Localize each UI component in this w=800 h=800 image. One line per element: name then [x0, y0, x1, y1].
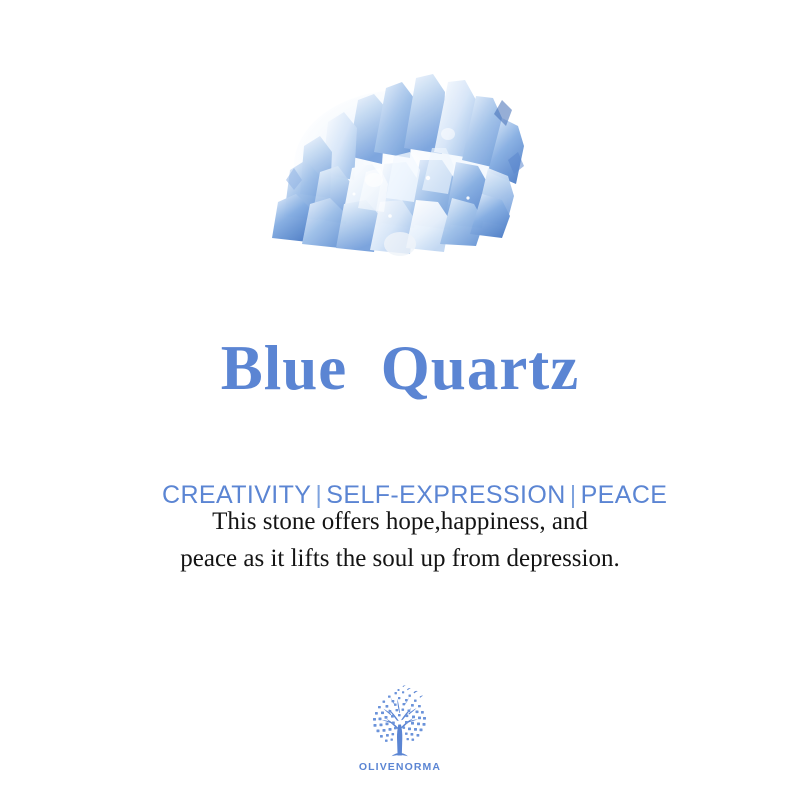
description-line-1: This stone offers hope,happiness, and: [0, 503, 800, 540]
page-title: Blue Quartz: [0, 333, 800, 403]
blue-quartz-image: [262, 48, 538, 263]
brand-logo: OLIVENORMA: [0, 683, 800, 773]
brand-name: OLIVENORMA: [0, 761, 800, 773]
tree-of-life-icon: [361, 683, 439, 763]
description-line-2: peace as it lifts the soul up from depre…: [0, 540, 800, 577]
stone-description: This stone offers hope,happiness, and pe…: [0, 503, 800, 577]
product-card: Blue Quartz CREATIVITY|SELF-EXPRESSION|P…: [0, 0, 800, 800]
crystal-cluster-illustration: [262, 48, 538, 263]
birds-decoration: [403, 685, 424, 697]
